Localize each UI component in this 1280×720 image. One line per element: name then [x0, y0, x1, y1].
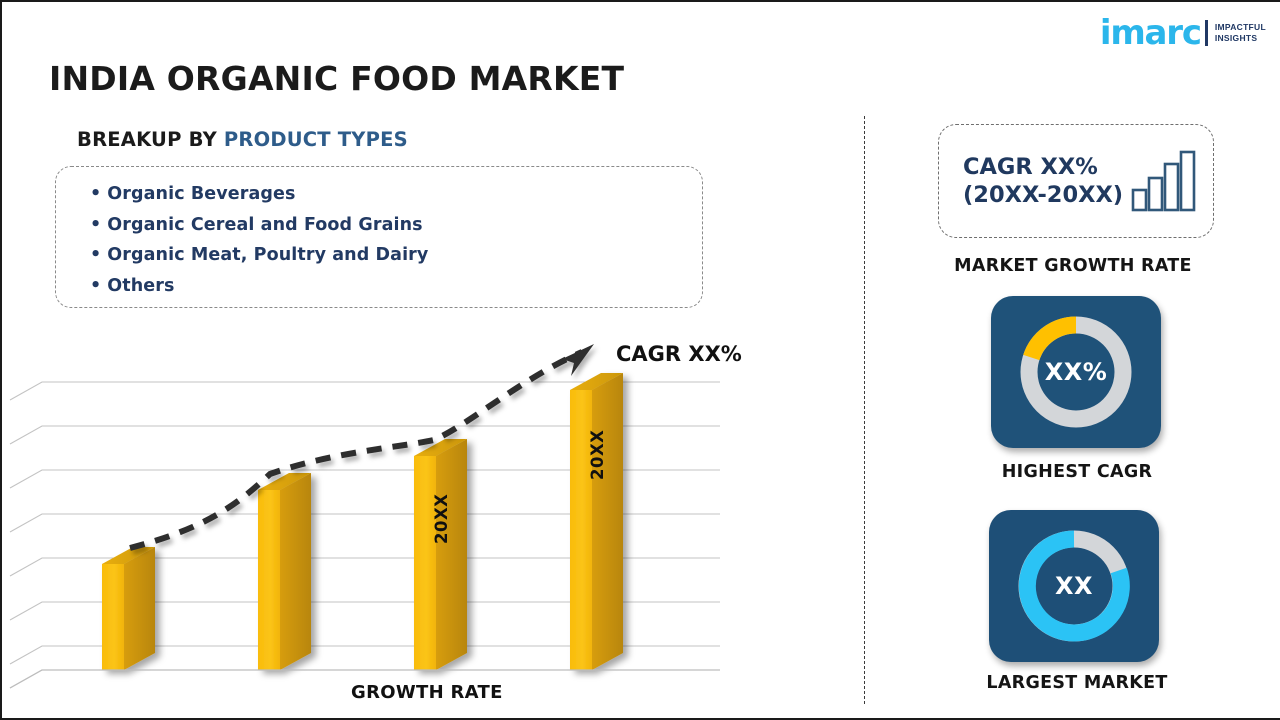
logo-tagline-line1: IMPACTFUL: [1215, 22, 1266, 33]
list-item: Others: [90, 271, 702, 302]
bar-3: [414, 439, 467, 670]
largest-market-tile: XX: [989, 510, 1159, 662]
trendline: [130, 344, 594, 548]
imarc-logo: imarc IMPACTFUL INSIGHTS: [1100, 14, 1266, 52]
cagr-card-text: CAGR XX% (20XX-20XX): [963, 153, 1123, 209]
logo-tagline: IMPACTFUL INSIGHTS: [1215, 22, 1266, 44]
list-item: Organic Meat, Poultry and Dairy: [90, 240, 702, 271]
infographic-page: imarc IMPACTFUL INSIGHTS INDIA ORGANIC F…: [0, 0, 1280, 720]
highest-cagr-tile: XX%: [991, 296, 1161, 448]
bar-2: [258, 473, 311, 670]
page-title: INDIA ORGANIC FOOD MARKET: [49, 59, 624, 98]
largest-market-label: LARGEST MARKET: [927, 673, 1227, 693]
bar-1: [102, 547, 155, 670]
list-item: Organic Beverages: [90, 179, 702, 210]
bar-4: [570, 373, 623, 670]
cagr-card-line2: (20XX-20XX): [963, 181, 1123, 209]
market-growth-card: CAGR XX% (20XX-20XX): [938, 124, 1214, 238]
market-growth-rate-label: MARKET GROWTH RATE: [864, 256, 1280, 276]
subtitle-highlight: PRODUCT TYPES: [224, 128, 408, 151]
highest-cagr-label: HIGHEST CAGR: [927, 462, 1227, 482]
logo-tagline-line2: INSIGHTS: [1215, 33, 1266, 44]
largest-market-value: XX: [1055, 572, 1093, 600]
chart-cagr-callout: CAGR XX%: [616, 342, 742, 366]
trend-arrowhead: [562, 344, 594, 376]
highest-cagr-value: XX%: [1045, 358, 1108, 386]
section-subtitle: BREAKUP BY PRODUCT TYPES: [77, 128, 408, 151]
logo-divider-icon: [1205, 20, 1208, 46]
subtitle-prefix: BREAKUP BY: [77, 128, 224, 151]
list-item: Organic Cereal and Food Grains: [90, 210, 702, 241]
cagr-card-line1: CAGR XX%: [963, 153, 1123, 181]
chart-xaxis-label: GROWTH RATE: [351, 682, 503, 703]
panel-divider: [864, 116, 865, 704]
bar-label-4: 20XX: [588, 430, 607, 480]
bar-chart-icon: [1131, 150, 1197, 217]
growth-rate-bar-chart: 20XX 20XX: [2, 332, 842, 720]
bar-label-3: 20XX: [432, 494, 451, 544]
logo-wordmark: imarc: [1100, 16, 1201, 50]
product-types-list: Organic Beverages Organic Cereal and Foo…: [55, 166, 703, 308]
